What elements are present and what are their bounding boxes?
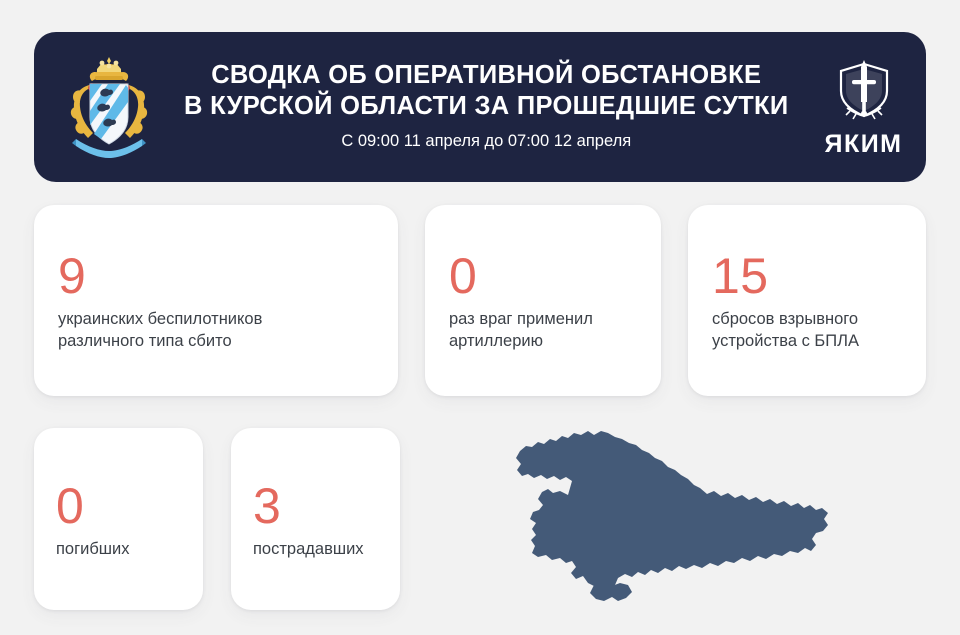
shield-sword-emblem-icon <box>833 58 895 129</box>
stat-card-explosive-drops: 15 сбросов взрывного устройства с БПЛА <box>688 205 926 396</box>
stat-value: 15 <box>712 249 902 303</box>
header-text-block: СВОДКА ОБ ОПЕРАТИВНОЙ ОБСТАНОВКЕ В КУРСК… <box>184 60 789 154</box>
page-title-line-2: В КУРСКОЙ ОБЛАСТИ ЗА ПРОШЕДШИЕ СУТКИ <box>184 91 789 122</box>
yakim-logo: ЯКИМ <box>789 32 939 182</box>
stat-value: 3 <box>253 479 378 533</box>
page-title-line-1: СВОДКА ОБ ОПЕРАТИВНОЙ ОБСТАНОВКЕ <box>211 60 761 91</box>
stat-value: 0 <box>56 479 181 533</box>
report-period-subtitle: С 09:00 11 апреля до 07:00 12 апреля <box>341 131 631 152</box>
stat-card-artillery-strikes: 0 раз враг применил артиллерию <box>425 205 661 396</box>
kursk-oblast-map <box>508 413 848 618</box>
stat-card-killed: 0 погибших <box>34 428 203 610</box>
stat-card-injured: 3 пострадавших <box>231 428 400 610</box>
header-banner: СВОДКА ОБ ОПЕРАТИВНОЙ ОБСТАНОВКЕ В КУРСК… <box>34 32 926 182</box>
stat-label: погибших <box>56 538 181 560</box>
stat-value: 9 <box>58 249 374 303</box>
stat-label: сбросов взрывного устройства с БПЛА <box>712 308 902 352</box>
kursk-oblast-coat-of-arms-icon <box>34 32 184 182</box>
yakim-wordmark: ЯКИМ <box>824 132 902 157</box>
stat-label: пострадавших <box>253 538 378 560</box>
stat-value: 0 <box>449 249 637 303</box>
stat-label: украинских беспилотников различного типа… <box>58 308 374 352</box>
stat-card-drones-downed: 9 украинских беспилотников различного ти… <box>34 205 398 396</box>
stat-label: раз враг применил артиллерию <box>449 308 637 352</box>
kursk-oblast-map-shape <box>516 431 828 589</box>
